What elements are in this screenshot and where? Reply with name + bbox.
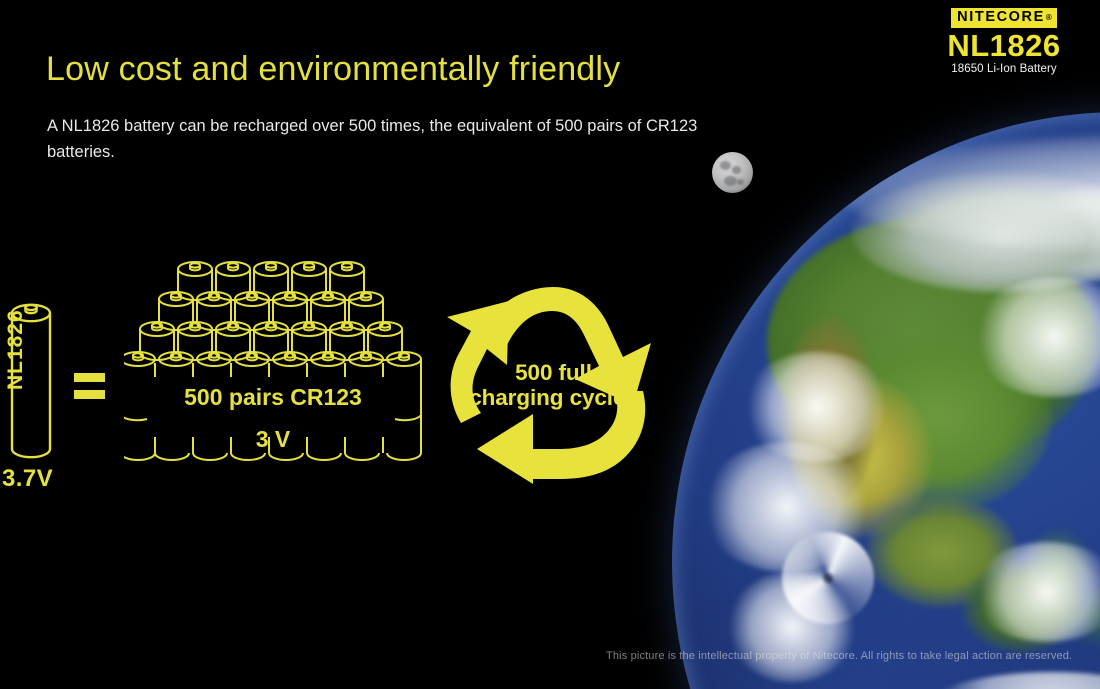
product-model-subtitle: 18650 Li-Ion Battery	[934, 63, 1074, 75]
infographic-canvas: Low cost and environmentally friendly A …	[0, 0, 1100, 689]
page-title: Low cost and environmentally friendly	[46, 50, 620, 89]
brand-logo-block: NITECORE ® NL1826 18650 Li-Ion Battery	[934, 8, 1074, 75]
registered-trademark-icon: ®	[1046, 13, 1052, 22]
moon-crater-2	[732, 166, 741, 174]
stack-row-1	[178, 262, 364, 300]
product-model: NL1826	[934, 30, 1074, 62]
cell-voltage-label: 3.7V	[2, 465, 53, 493]
copyright-notice: This picture is the intellectual propert…	[606, 650, 1072, 662]
equals-sign	[74, 373, 105, 407]
recycle-caption: 500 full charging cycles	[447, 360, 660, 410]
moon-crater-4	[737, 179, 744, 185]
moon-crater-1	[720, 161, 731, 170]
stack-voltage-label: 3 V	[256, 426, 291, 452]
equals-bar-bottom	[74, 390, 105, 399]
equals-bar-top	[74, 373, 105, 382]
cell-label: NL1826	[4, 240, 28, 390]
moon-image	[712, 152, 753, 193]
nitecore-logo-text: NITECORE	[957, 9, 1045, 26]
recycle-caption-line1: 500 full	[447, 360, 660, 385]
moon-crater-3	[724, 176, 737, 186]
nitecore-logo-badge: NITECORE ®	[951, 8, 1057, 28]
nl1826-cell-diagram: NL1826 3.7V	[0, 296, 62, 501]
earth-image	[672, 112, 1100, 689]
recycle-cycle-diagram: 500 full charging cycles	[447, 287, 660, 489]
stack-title-label: 500 pairs CR123	[184, 384, 362, 410]
recycle-caption-line2: charging cycles	[447, 385, 660, 410]
cr123-stack-icon: 500 pairs CR123 3 V	[124, 255, 426, 501]
page-subtitle: A NL1826 battery can be recharged over 5…	[47, 113, 707, 165]
earth-atmosphere-limb	[672, 112, 1100, 689]
cr123-stack-diagram: 500 pairs CR123 3 V	[124, 255, 426, 506]
